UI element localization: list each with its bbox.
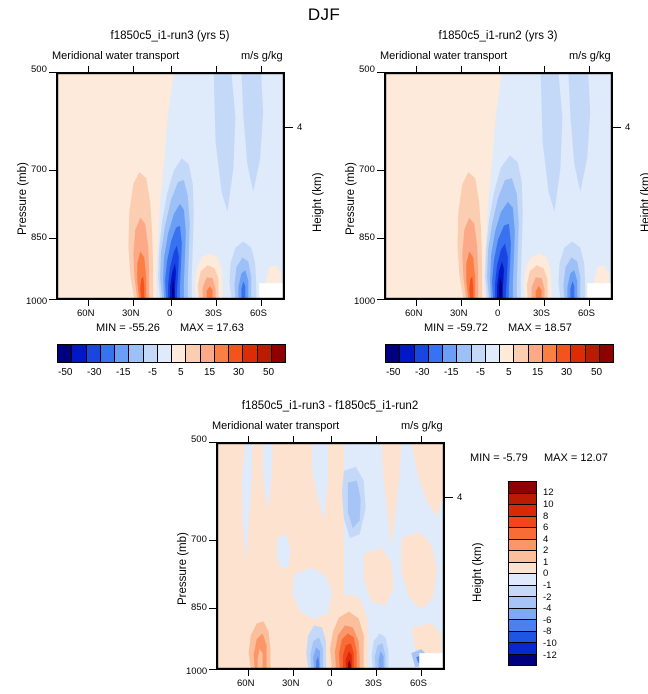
panel-run3-y2-axis-title: Height (km) [312, 173, 324, 232]
colorbar-cell [509, 505, 536, 517]
panel-run2-ytick-mark [377, 238, 384, 239]
colorbar-cell [201, 345, 215, 362]
panel-run2-ytick-1000: 1000 [354, 296, 375, 307]
colorbar-cell [215, 345, 229, 362]
panel-diff-ytick-mark [209, 608, 216, 609]
colorbar-cell [129, 345, 143, 362]
colorbar-run2 [385, 344, 614, 363]
panel-run2-y2-axis-title: Height (km) [640, 173, 648, 232]
panel-diff-max-label: MAX = 12.07 [544, 452, 608, 464]
colorbar-diff-label: 1 [543, 558, 548, 568]
panel-run2-xtick-30N: 30N [450, 308, 467, 319]
panel-diff-xtick-30N: 30N [282, 678, 299, 689]
panel-diff-xtick-mark [248, 436, 249, 443]
colorbar-cell [509, 655, 536, 666]
panel-run3-xtick-60N: 60N [77, 308, 94, 319]
panel-run3-xtick-mark [88, 66, 89, 73]
colorbar-cell [158, 345, 172, 362]
panel-run3-xtick-60S: 60S [250, 308, 267, 319]
colorbar-cell [186, 345, 200, 362]
panel-diff-ytick-1000: 1000 [186, 666, 207, 677]
panel-run3-ytick-1000: 1000 [26, 296, 47, 307]
colorbar-cell [509, 574, 536, 586]
colorbar-cell [243, 345, 257, 362]
panel-run2-xtick-mark [416, 66, 417, 73]
colorbar-cell [509, 517, 536, 529]
colorbar-diff-label: -8 [543, 627, 551, 637]
panel-diff-xtick-30S: 30S [365, 678, 382, 689]
panel-run2-xtick-mark [416, 300, 417, 306]
colorbar-diff-label: -12 [543, 651, 557, 661]
panel-diff-xtick-mark [421, 436, 422, 443]
panel-diff-units-label: m/s g/kg [401, 420, 443, 432]
colorbar-cell [101, 345, 115, 362]
colorbar-cell [386, 345, 400, 362]
panel-run3-units-label: m/s g/kg [241, 50, 283, 62]
colorbar-run3-label: 5 [178, 367, 184, 378]
panel-diff-xtick-mark [293, 670, 294, 676]
panel-run2-ytick-mark [377, 170, 384, 171]
panel-run2-y2tick-mark [613, 127, 621, 128]
panel-run3-xtick-mark [261, 300, 262, 306]
colorbar-cell [443, 345, 457, 362]
colorbar-cell [172, 345, 186, 362]
panel-run3-ytick-850: 850 [31, 232, 47, 243]
colorbar-cell [509, 586, 536, 598]
panel-run2-xtick-mark [589, 66, 590, 73]
contour-field-run3 [57, 73, 284, 299]
colorbar-diff-label: -10 [543, 639, 557, 649]
colorbar-cell [557, 345, 571, 362]
panel-run3-ytick-500: 500 [31, 64, 47, 75]
panel-diff-ytick-700: 700 [191, 534, 207, 545]
colorbar-run3-label: 15 [204, 367, 215, 378]
colorbar-cell [229, 345, 243, 362]
panel-diff-variable-label: Meridional water transport [212, 420, 339, 432]
colorbar-run3-label: -50 [58, 367, 72, 378]
panel-title-run3: f1850c5_i1-run3 (yrs 5) [38, 30, 302, 42]
colorbar-run2-label: -50 [386, 367, 400, 378]
panel-diff-xtick-60S: 60S [410, 678, 427, 689]
panel-run2-ytick-700: 700 [359, 164, 375, 175]
colorbar-cell [509, 528, 536, 540]
colorbar-diff [508, 481, 537, 666]
colorbar-cell [415, 345, 429, 362]
colorbar-run2-label: -30 [415, 367, 429, 378]
colorbar-cell [144, 345, 158, 362]
panel-run3-ytick-700: 700 [31, 164, 47, 175]
panel-run3-y2tick-mark [285, 127, 293, 128]
panel-run3-xtick-mark [216, 66, 217, 73]
panel-diff-xtick-60N: 60N [237, 678, 254, 689]
panel-diff-ytick-500: 500 [191, 434, 207, 445]
panel-diff-ytick-mark [209, 442, 216, 443]
panel-run2-ytick-850: 850 [359, 232, 375, 243]
panel-run2-y2tick-4: 4 [625, 122, 630, 133]
panel-title-diff: f1850c5_i1-run3 - f1850c5_i1-run2 [180, 400, 480, 412]
contour-field-run2 [385, 73, 612, 299]
panel-diff-min-label: MIN = -5.79 [470, 452, 528, 464]
colorbar-run2-label: 50 [591, 367, 602, 378]
panel-run3-ytick-mark [49, 299, 56, 300]
colorbar-diff-label: 8 [543, 512, 548, 522]
plot-area-diff [216, 442, 445, 670]
colorbar-run3-label: -5 [148, 367, 157, 378]
colorbar-cell [87, 345, 101, 362]
colorbar-cell [509, 540, 536, 552]
panel-run2-xtick-mark [499, 66, 500, 73]
panel-run2-units-label: m/s g/kg [569, 50, 611, 62]
panel-diff-xtick-mark [376, 436, 377, 443]
panel-run3-xtick-mark [171, 66, 172, 73]
colorbar-cell [509, 632, 536, 644]
colorbar-cell [472, 345, 486, 362]
colorbar-cell [529, 345, 543, 362]
panel-diff-ytick-mark [209, 540, 216, 541]
colorbar-diff-label: -4 [543, 604, 551, 614]
colorbar-diff-label: 2 [543, 546, 548, 556]
panel-diff-xtick-mark [248, 670, 249, 676]
colorbar-cell [509, 597, 536, 609]
colorbar-cell [571, 345, 585, 362]
colorbar-diff-label: 10 [543, 500, 554, 510]
colorbar-cell [509, 482, 536, 494]
colorbar-cell [600, 345, 613, 362]
colorbar-cell [58, 345, 72, 362]
panel-diff-xtick-mark [376, 670, 377, 676]
panel-run3-ytick-mark [49, 238, 56, 239]
colorbar-cell [72, 345, 86, 362]
panel-run2-xtick-mark [544, 66, 545, 73]
colorbar-cell [543, 345, 557, 362]
panel-run3-min-label: MIN = -55.26 [96, 322, 160, 334]
panel-diff-xtick-mark [331, 436, 332, 443]
colorbar-diff-label: 6 [543, 523, 548, 533]
colorbar-run3-label: 30 [233, 367, 244, 378]
panel-run2-y-axis-title: Pressure (mb) [345, 162, 357, 235]
colorbar-run2-label: 5 [506, 367, 512, 378]
colorbar-cell [514, 345, 528, 362]
panel-run3-xtick-mark [133, 300, 134, 306]
panel-run2-xtick-mark [499, 300, 500, 306]
panel-run3-ytick-mark [49, 72, 56, 73]
colorbar-diff-label: -6 [543, 616, 551, 626]
panel-diff-xtick-mark [293, 436, 294, 443]
panel-run2-xtick-mark [461, 300, 462, 306]
panel-run3-variable-label: Meridional water transport [52, 50, 179, 62]
colorbar-run2-label: -15 [444, 367, 458, 378]
panel-run3-max-label: MAX = 17.63 [180, 322, 244, 334]
figure-title: DJF [0, 5, 648, 25]
colorbar-run3-label: 50 [263, 367, 274, 378]
colorbar-run3-label: -15 [116, 367, 130, 378]
plot-area-run3 [56, 72, 285, 300]
colorbar-run3-label: -30 [87, 367, 101, 378]
panel-diff-y2-axis-title: Height (km) [472, 543, 484, 602]
panel-run2-xtick-mark [544, 300, 545, 306]
colorbar-diff-label: 4 [543, 535, 548, 545]
colorbar-cell [400, 345, 414, 362]
colorbar-cell [586, 345, 600, 362]
colorbar-cell [429, 345, 443, 362]
panel-run2-variable-label: Meridional water transport [380, 50, 507, 62]
colorbar-diff-label: 12 [543, 488, 554, 498]
colorbar-cell [509, 551, 536, 563]
colorbar-diff-label: -2 [543, 593, 551, 603]
panel-run3-xtick-30S: 30S [205, 308, 222, 319]
panel-run2-xtick-0: 0 [495, 308, 500, 319]
colorbar-run2-label: 30 [561, 367, 572, 378]
panel-run3-xtick-30N: 30N [122, 308, 139, 319]
panel-run3-xtick-mark [133, 66, 134, 73]
colorbar-cell [272, 345, 285, 362]
panel-run3-ytick-mark [49, 170, 56, 171]
colorbar-cell [509, 643, 536, 655]
colorbar-cell [509, 609, 536, 621]
panel-run2-min-label: MIN = -59.72 [424, 322, 488, 334]
panel-run3-xtick-0: 0 [167, 308, 172, 319]
panel-run2-ytick-mark [377, 299, 384, 300]
panel-run3-y-axis-title: Pressure (mb) [17, 162, 29, 235]
colorbar-cell [509, 563, 536, 575]
colorbar-cell [457, 345, 471, 362]
colorbar-cell [486, 345, 500, 362]
colorbar-diff-label: -1 [543, 581, 551, 591]
colorbar-cell [115, 345, 129, 362]
panel-diff-ytick-mark [209, 669, 216, 670]
panel-title-run2: f1850c5_i1-run2 (yrs 3) [366, 30, 630, 42]
panel-run3-xtick-mark [261, 66, 262, 73]
panel-run2-ytick-mark [377, 72, 384, 73]
colorbar-cell [509, 620, 536, 632]
panel-run3-xtick-mark [88, 300, 89, 306]
panel-run2-ytick-500: 500 [359, 64, 375, 75]
colorbar-run3 [57, 344, 286, 363]
colorbar-run2-label: 15 [532, 367, 543, 378]
panel-diff-xtick-0: 0 [327, 678, 332, 689]
panel-run2-max-label: MAX = 18.57 [508, 322, 572, 334]
panel-diff-y2tick-4: 4 [457, 492, 462, 503]
panel-run3-xtick-mark [171, 300, 172, 306]
panel-run2-xtick-60N: 60N [405, 308, 422, 319]
plot-area-run2 [384, 72, 613, 300]
colorbar-diff-label: 0 [543, 569, 548, 579]
panel-diff-xtick-mark [331, 670, 332, 676]
panel-run3-y2tick-4: 4 [297, 122, 302, 133]
contour-field-diff [217, 443, 444, 669]
panel-run2-xtick-30S: 30S [533, 308, 550, 319]
colorbar-cell [500, 345, 514, 362]
panel-diff-y-axis-title: Pressure (mb) [177, 532, 189, 605]
panel-run2-xtick-mark [461, 66, 462, 73]
panel-diff-xtick-mark [421, 670, 422, 676]
colorbar-cell [509, 494, 536, 506]
panel-diff-y2tick-mark [445, 497, 453, 498]
colorbar-cell [258, 345, 272, 362]
panel-run2-xtick-60S: 60S [578, 308, 595, 319]
colorbar-run2-label: -5 [476, 367, 485, 378]
panel-diff-ytick-850: 850 [191, 602, 207, 613]
panel-run3-xtick-mark [216, 300, 217, 306]
panel-run2-xtick-mark [589, 300, 590, 306]
